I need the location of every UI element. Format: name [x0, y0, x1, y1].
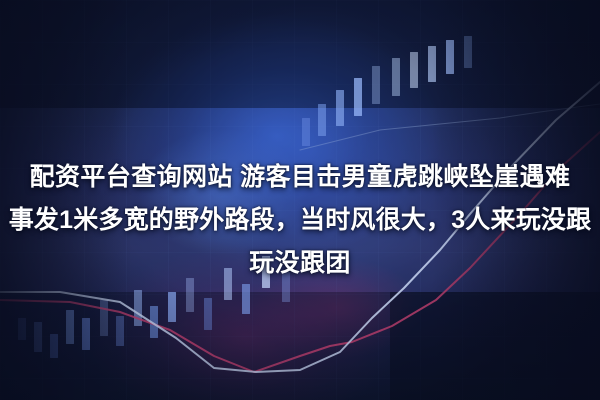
headline-line-2: 事发1米多宽的野外路段，当时风很大，3人来玩没跟 — [0, 199, 600, 242]
headline: 配资平台查询网站 游客目击男童虎跳峡坠崖遇难 事发1米多宽的野外路段，当时风很大… — [0, 156, 600, 285]
headline-line-1: 配资平台查询网站 游客目击男童虎跳峡坠崖遇难 — [0, 156, 600, 199]
trend-line — [300, 104, 600, 150]
headline-line-3: 玩没跟团 — [0, 242, 600, 285]
news-banner: 配资平台查询网站 游客目击男童虎跳峡坠崖遇难 事发1米多宽的野外路段，当时风很大… — [0, 0, 600, 400]
